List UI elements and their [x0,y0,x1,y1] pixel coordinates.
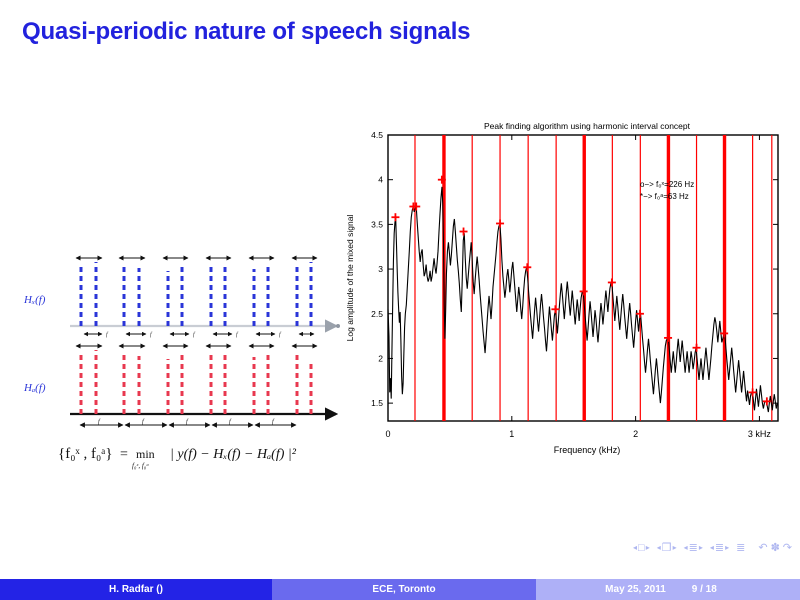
page-title: Quasi-periodic nature of speech signals [22,18,470,46]
y-tick-label-0: 1.5 [371,398,383,408]
footer-author: H. Radfar () [0,579,272,600]
bottom-harmonic-labels: ff ff f [98,418,275,425]
nav-subsection-icon[interactable]: ≣ [689,543,698,554]
x-tick-label-1: 1 [509,429,514,439]
nav-slide-group[interactable]: ◂ □ ▸ [633,543,650,554]
nav-document-icon[interactable]: ≣ [736,543,745,554]
comb-bottom-group: ff ff f [70,346,336,425]
svg-text:f: f [229,418,232,425]
x-tick-label-0: 0 [385,429,390,439]
nav-frame-icon[interactable]: ❐ [662,543,672,554]
top-harmonic-lines [81,262,311,326]
bottom-harmonic-lines [81,350,311,414]
nav-prev-subsection-icon[interactable]: ◂ [684,544,688,552]
x-tick-label-2: 2 [633,429,638,439]
svg-text:f: f [186,418,189,425]
nav-forward-icon[interactable]: ↷ [783,543,792,554]
spectrum-chart: Peak finding algorithm using harmonic in… [340,115,792,465]
harmonic-combs-svg: ff ff f Hₓ(f) [18,248,348,433]
y-tick-label-6: 4.5 [371,130,383,140]
y-axis-ticks: 1.522.533.544.5 [371,130,778,408]
top-harmonic-labels: ff ff f [106,331,282,338]
nav-next-section-icon[interactable]: ▸ [725,544,729,552]
slide: Quasi-periodic nature of speech signals [0,0,800,600]
equation-lhs: {f₀ˣ , f₀ᵃ} [58,446,113,462]
y-tick-label-5: 4 [378,175,383,185]
nav-next-frame-icon[interactable]: ▸ [673,544,677,552]
svg-text:f: f [193,331,196,338]
peak-marker-11 [664,334,672,342]
y-tick-label-1: 2 [378,353,383,363]
equation-svg: {f₀ˣ , f₀ᵃ} = min f₀ˣ, f₀ᵃ | y(f) − Hₓ(f… [58,438,348,472]
peak-marker-12 [693,344,701,352]
nav-section-icon[interactable]: ≣ [715,543,724,554]
nav-search-icon[interactable]: ✽ [771,543,780,554]
nav-section-group[interactable]: ◂ ≣ ▸ [710,543,729,554]
x-tick-label-3: 3 kHz [748,429,772,439]
peak-marker-6 [523,263,531,271]
peak-marker-9 [608,278,616,286]
svg-text:f: f [279,331,282,338]
nav-prev-slide-icon[interactable]: ◂ [633,544,637,552]
equation-operator-sub: f₀ˣ, f₀ᵃ [132,462,149,470]
legend-entry-1: *−> f₀ᵃ=63 Hz [640,192,689,201]
comb-top-group: ff ff f [70,258,340,338]
footer-page-number: 9 / 18 [692,584,717,595]
peak-marker-4 [460,228,468,236]
footer-meta: May 25, 2011 9 / 18 [536,579,800,600]
y-axis-label: Log amplitude of the mixed signal [345,215,355,342]
footer-date: May 25, 2011 [605,584,666,595]
objective-equation: {f₀ˣ , f₀ᵃ} = min f₀ˣ, f₀ᵃ | y(f) − Hₓ(f… [58,438,348,472]
peak-marker-7 [551,305,559,313]
slide-footer: H. Radfar () ECE, Toronto May 25, 2011 9… [0,579,800,600]
nav-subsection-group[interactable]: ◂ ≣ ▸ [684,543,703,554]
svg-text:f: f [150,331,153,338]
nav-next-subsection-icon[interactable]: ▸ [699,544,703,552]
footer-institute: ECE, Toronto [272,579,536,600]
spectrum-chart-svg: Peak finding algorithm using harmonic in… [340,115,792,465]
equation-rhs: | y(f) − Hₓ(f) − Hₐ(f) |² [170,447,297,462]
comb-top-label: Hₓ(f) [23,294,46,306]
x-axis-label: Frequency (kHz) [554,445,621,455]
chart-title: Peak finding algorithm using harmonic in… [484,121,691,131]
nav-prev-frame-icon[interactable]: ◂ [657,544,661,552]
peak-markers [391,176,770,406]
nav-back-icon[interactable]: ↶ [758,543,767,554]
beamer-navigation-bar[interactable]: ◂ □ ▸ ◂ ❐ ▸ ◂ ≣ ▸ ◂ ≣ ▸ ≣ ↶ ✽ ↷ [633,540,792,556]
nav-next-slide-icon[interactable]: ▸ [646,544,650,552]
svg-text:f: f [106,331,109,338]
nav-prev-section-icon[interactable]: ◂ [710,544,714,552]
y-tick-label-2: 2.5 [371,309,383,319]
svg-text:f: f [272,418,275,425]
peak-marker-8 [580,287,588,295]
svg-text:f: f [142,418,145,425]
svg-text:f: f [236,331,239,338]
legend-entry-0: o−> f₀ˣ=226 Hz [640,180,694,189]
peak-marker-0 [391,213,399,221]
peak-marker-5 [496,219,504,227]
comb-bottom-label: Hₐ(f) [23,382,46,394]
y-tick-label-4: 3.5 [371,219,383,229]
equation-operator: min [136,447,155,461]
equation-equals: = [120,447,128,462]
nav-frame-group[interactable]: ◂ ❐ ▸ [657,543,677,554]
harmonic-combs-figure: ff ff f Hₓ(f) [18,248,348,433]
svg-text:f: f [98,418,101,425]
y-tick-label-3: 3 [378,264,383,274]
nav-slide-icon[interactable]: □ [638,543,645,554]
